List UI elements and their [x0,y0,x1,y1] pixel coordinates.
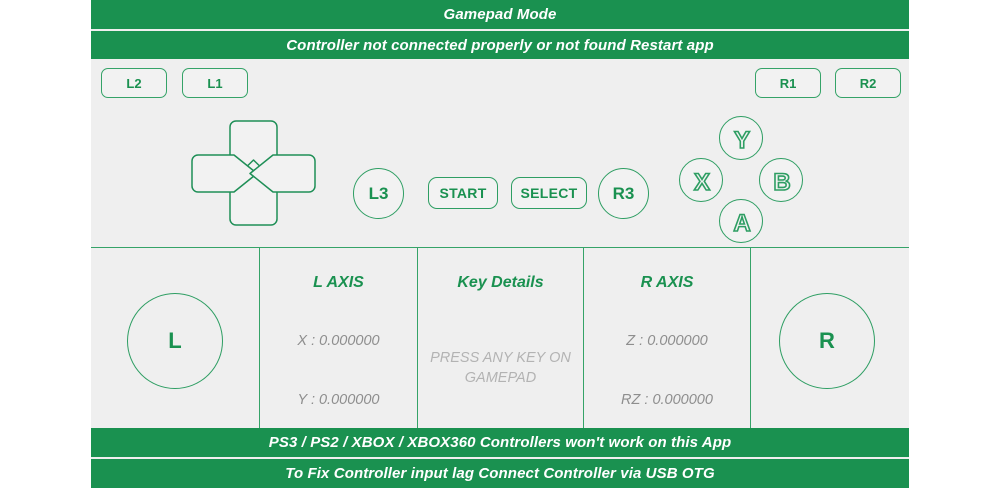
svg-text:A: A [733,210,750,237]
button-l2[interactable]: L2 [101,68,167,98]
connection-status-bar: Controller not connected properly or not… [91,31,909,59]
l-axis-y-value: Y : 0.000000 [260,392,417,408]
l-axis-title: L AXIS [260,274,417,292]
letter-b-icon: B [760,159,804,203]
button-r3[interactable]: R3 [598,168,649,219]
key-details-title: Key Details [418,274,583,292]
button-select[interactable]: SELECT [511,177,587,209]
button-r2[interactable]: R2 [835,68,901,98]
r-axis-title: R AXIS [584,274,750,292]
button-a[interactable]: A [719,199,763,243]
svg-text:B: B [773,169,790,196]
button-start[interactable]: START [428,177,498,209]
footer-notice-usb-otg: To Fix Controller input lag Connect Cont… [91,459,909,488]
button-b[interactable]: B [759,158,803,202]
r-axis-z-value: Z : 0.000000 [584,333,750,349]
gamepad-app-window: Gamepad Mode Controller not connected pr… [91,0,909,488]
letter-x-icon: X [680,159,724,203]
analog-stick-right[interactable]: R [779,293,875,389]
r-axis-rz-value: RZ : 0.000000 [584,392,750,408]
button-x[interactable]: X [679,158,723,202]
key-details-hint: PRESS ANY KEY ON GAMEPAD [418,348,583,388]
button-l1[interactable]: L1 [182,68,248,98]
dpad [191,113,316,233]
panel-divider-4 [750,248,751,428]
app-title-bar: Gamepad Mode [91,0,909,29]
panel-l-axis: L AXIS X : 0.000000 Y : 0.000000 [260,248,417,428]
button-r1[interactable]: R1 [755,68,821,98]
footer-notice-controllers: PS3 / PS2 / XBOX / XBOX360 Controllers w… [91,428,909,457]
panel-r-axis: R AXIS Z : 0.000000 RZ : 0.000000 [584,248,750,428]
svg-text:X: X [694,169,710,196]
l-axis-x-value: X : 0.000000 [260,333,417,349]
analog-stick-left[interactable]: L [127,293,223,389]
panel-key-details: Key Details PRESS ANY KEY ON GAMEPAD [418,248,583,428]
button-y[interactable]: Y [719,116,763,160]
svg-text:Y: Y [734,127,750,154]
letter-y-icon: Y [720,117,764,161]
letter-a-icon: A [720,200,764,244]
button-l3[interactable]: L3 [353,168,404,219]
